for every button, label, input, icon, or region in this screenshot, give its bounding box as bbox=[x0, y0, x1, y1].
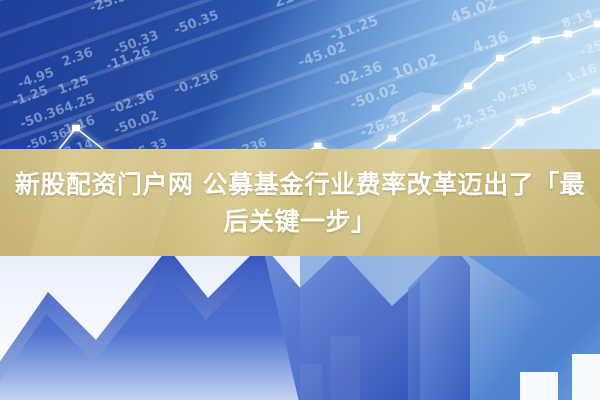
chart-node-marker bbox=[594, 21, 600, 27]
chart-node-marker bbox=[72, 125, 80, 131]
finance-news-banner: -25.3521.7545.028.14-50.35-11.254.36-25.… bbox=[0, 0, 600, 400]
chart-node-marker bbox=[564, 31, 572, 37]
chart-node-marker bbox=[516, 119, 524, 125]
headline-line-1: 新股配资门户网 公募基金行业费率改革迈出了「最 bbox=[15, 166, 585, 203]
chart-node-marker bbox=[432, 105, 440, 111]
chart-node-marker bbox=[592, 89, 600, 95]
chart-node-marker bbox=[496, 55, 504, 61]
headline-line-2: 后关键一步」 bbox=[223, 203, 376, 240]
chart-node-marker bbox=[532, 37, 540, 43]
chart-node-marker bbox=[388, 135, 396, 141]
chart-node-marker bbox=[552, 107, 560, 113]
chart-node-marker bbox=[464, 83, 472, 89]
zigzag-arrow-ribbon bbox=[0, 236, 600, 400]
page-title: 新股配资门户网 公募基金行业费率改革迈出了「最 后关键一步」 bbox=[0, 149, 600, 256]
